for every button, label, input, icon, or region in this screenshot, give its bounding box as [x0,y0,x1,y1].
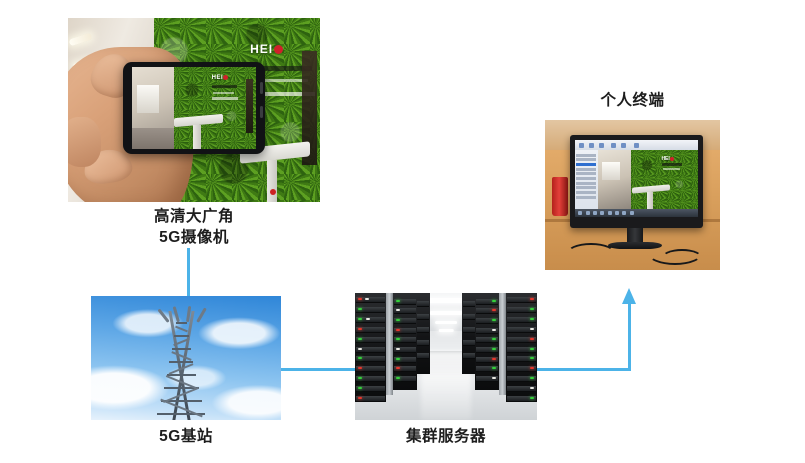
node-image-server [355,293,537,420]
server-rack [462,293,475,374]
server-rack [475,293,499,390]
wall-logo: HEI [250,42,283,56]
cable [661,249,704,268]
connector-server-to-terminal-horizontal [537,368,631,371]
screen-sign-text [212,85,236,88]
monitor-neck [627,228,643,243]
screen-room-area [132,67,174,149]
node-image-base-station [91,296,281,420]
server-rack [355,293,386,402]
arrow-up-icon [622,288,636,304]
node-label-base-station: 5G基站 [91,426,281,447]
phone-button [260,106,263,118]
server-rack [417,293,430,374]
cell-tower [180,311,182,420]
screen-sign-subtext [213,92,234,94]
connector-camera-to-base-station [187,248,190,296]
node-label-server: 集群服务器 [355,426,537,447]
screen-dark-panel [246,79,253,133]
node-label-camera: 高清大广角 5G摄像机 [68,206,320,248]
tower-antenna-array [167,307,205,322]
logo-dot-icon [274,45,283,54]
node-image-camera: HEI HEI [68,18,320,202]
rack-side-panel [499,293,506,395]
app-sidebar [575,150,599,209]
video-pedestal-column [647,192,653,209]
screen-logo: HEI [212,75,229,81]
screen-shelf-bar [212,97,239,100]
smartphone: HEI [123,62,264,154]
monitor-screen: HEI [575,140,698,217]
thumb [68,117,101,167]
screen-pedestal-column [193,125,202,150]
desktop-monitor: HEI [570,135,703,228]
app-video-pane: HEI [598,150,698,209]
logo-dot-icon [670,157,674,161]
connector-server-to-terminal-vertical [628,303,631,371]
app-status-bar [575,209,698,217]
screen-moss-wall: HEI [174,67,255,149]
video-logo: HEI [661,156,673,162]
phone-button [260,82,263,94]
red-container [552,177,568,216]
video-moss-wall: HEI [631,150,698,209]
diagram-canvas: HEI HEI [0,0,805,463]
server-rack [393,293,417,390]
cable [566,243,616,265]
phone-screen: HEI [132,67,255,149]
video-room-area [598,150,631,209]
server-rack [506,293,537,402]
connector-base-station-to-server [281,368,355,371]
node-label-terminal: 个人终端 [545,90,720,111]
video-sign-text [662,163,682,166]
rack-side-panel [386,293,393,395]
node-image-terminal: HEI [545,120,720,270]
logo-dot-icon [223,75,228,80]
ceiling-light [68,33,92,47]
video-sign-subtext [663,168,680,170]
